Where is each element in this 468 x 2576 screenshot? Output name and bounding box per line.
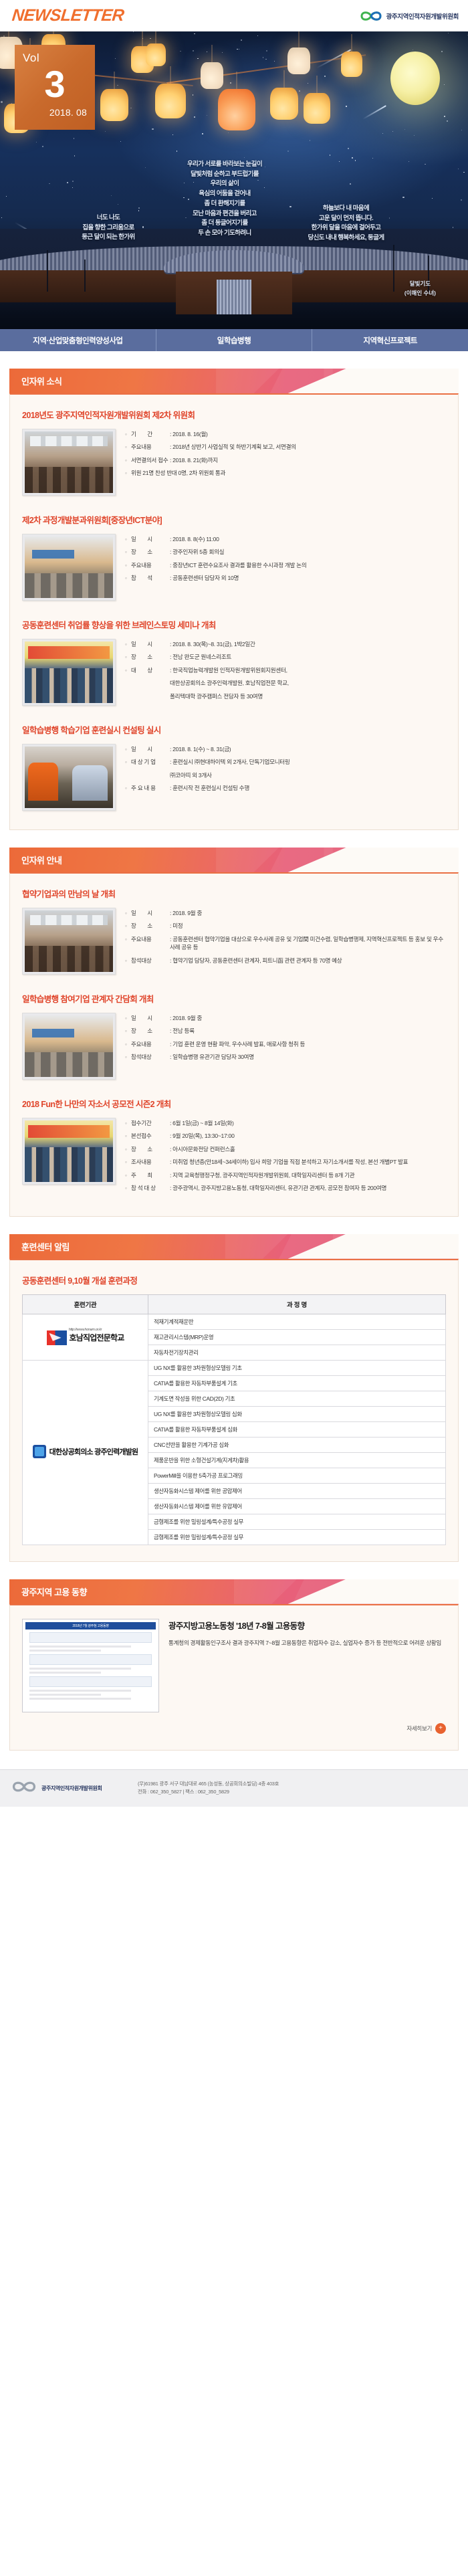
article-fact: ◦장 소: 전남 완도군 원네스리조트 xyxy=(125,653,446,661)
bullet-icon: ◦ xyxy=(125,561,131,569)
star-icon xyxy=(228,132,229,133)
star-icon xyxy=(145,167,146,168)
star-icon xyxy=(193,50,194,52)
star-icon xyxy=(453,227,453,227)
fact-value: : 훈련시작 전 훈련실시 컨설팅 수행 xyxy=(170,784,446,792)
footer-contact-info: (우)61981 광주 서구 대남대로 465 (농성동, 상공회의소빌딩) 4… xyxy=(138,1780,279,1797)
course-name-cell: 자동차전기장치관리 xyxy=(148,1345,446,1360)
star-icon xyxy=(444,84,445,85)
lantern-icon xyxy=(341,52,362,77)
star-icon xyxy=(150,38,151,39)
hero-banner: Vol 3 2018. 08 우리가 서로를 바라보는 눈길이 달빛처럼 순하고… xyxy=(0,31,468,329)
fact-value: : 2018년 상반기 사업실적 및 하반기계획 보고, 서면결의 xyxy=(170,443,446,451)
article-row: ◦접수기간: 6월 1일(금) ~ 8월 14일(화)◦본선접수: 9월 20일… xyxy=(22,1118,446,1197)
more-label: 자세히보기 xyxy=(406,1724,432,1732)
bullet-icon: ◦ xyxy=(125,1158,131,1166)
course-name-cell: UG NX를 활용한 3차원형상모델링 기초 xyxy=(148,1360,446,1375)
star-icon xyxy=(432,198,433,199)
infinity-swoosh-logo-icon xyxy=(360,9,382,23)
fact-value: : 광주인자위 5층 회의실 xyxy=(170,548,446,556)
fact-key: 일 시 xyxy=(131,535,170,543)
article-title: 일학습병행 학습기업 훈련실시 컨설팅 실시 xyxy=(22,723,446,736)
article-photo xyxy=(22,534,116,601)
fact-key: 일 시 xyxy=(131,909,170,917)
star-icon xyxy=(72,181,74,182)
course-name-cell: UG NX를 활용한 3차원형상모델링 심화 xyxy=(148,1406,446,1421)
star-icon xyxy=(138,207,140,209)
star-icon xyxy=(115,58,116,59)
star-icon xyxy=(202,133,203,134)
article: 협약기업과의 만남의 날 개최◦일 시: 2018. 9월 중◦장 소: 미정◦… xyxy=(22,887,446,975)
article-fact: ◦주 요 내 용: 훈련시작 전 훈련실시 컨설팅 수행 xyxy=(125,784,446,792)
article-fact: ◦주 최: 지역 교육청행정구청, 광주지역인적자원개발위원회, 대학일자리센터… xyxy=(125,1171,446,1179)
fact-value: : 중장년ICT 훈련수요조사 결과를 활용한 수시과정 개발 논의 xyxy=(170,561,446,569)
star-icon xyxy=(67,182,68,183)
fact-value: : 미정 xyxy=(170,922,446,930)
fact-key: 대 상 기 업 xyxy=(131,758,170,766)
report-doc-line xyxy=(29,1646,131,1648)
poem-right: 하늘보다 내 마음에 고운 달이 먼저 뜹니다. 한가위 달을 마음에 걸어두고… xyxy=(287,204,404,243)
article-title: 일학습병행 참여기업 관계자 간담회 개최 xyxy=(22,992,446,1005)
column-header-1: 과 정 명 xyxy=(148,1294,446,1314)
volume-number: 3 xyxy=(23,66,87,102)
fact-value: : 전남 완도군 원네스리조트 xyxy=(170,653,446,661)
star-icon xyxy=(111,195,112,196)
group-photo-seminar-icon xyxy=(25,641,113,703)
course-name-cell: 금형제조를 위한 밀링설계/특수공정 실무 xyxy=(148,1514,446,1529)
fact-value: : 9월 20일(목), 13:30~17:00 xyxy=(170,1132,446,1140)
article-photo-inner xyxy=(25,431,113,493)
fact-value: ㈜코아띠 외 3개사 xyxy=(170,771,446,779)
star-icon xyxy=(287,151,289,152)
nav-tab-label: 지역·산업맞춤형인력양성사업 xyxy=(33,335,122,346)
article-photo-inner xyxy=(25,910,113,972)
course-name-cell: PowerMill을 이용한 5축가공 프로그래밍 xyxy=(148,1468,446,1483)
star-icon xyxy=(425,164,425,165)
lantern-icon xyxy=(218,89,255,130)
report-doc-line xyxy=(29,1672,101,1674)
tree-icon xyxy=(84,260,86,292)
nav-tab-1[interactable]: 일학습병행 xyxy=(156,329,313,351)
table-row: 대한상공회의소 광주인력개발원UG NX를 활용한 3차원형상모델링 기초 xyxy=(23,1360,446,1375)
training-subtitle: 공동훈련센터 9,10월 개설 훈련과정 xyxy=(22,1274,446,1286)
lantern-icon xyxy=(287,47,310,74)
article: 2018년도 광주지역인적자원개발위원회 제2차 위원회◦기 간: 2018. … xyxy=(22,408,446,496)
star-icon xyxy=(408,161,409,162)
star-icon xyxy=(404,129,405,130)
article-fact: ◦장 소: 광주인자위 5층 회의실 xyxy=(125,548,446,556)
star-icon xyxy=(180,51,181,52)
table-row: http://www.honam.or.kr호남직업전문학교적재기계적재운반 xyxy=(23,1314,446,1329)
bullet-icon: ◦ xyxy=(125,935,131,952)
star-icon xyxy=(130,108,132,109)
fun-job-festival-poster-icon xyxy=(25,1120,113,1182)
bullet-icon: ◦ xyxy=(125,653,131,661)
bullet-icon: ◦ xyxy=(125,1053,131,1061)
article-photo xyxy=(22,1013,116,1080)
article-fact: ◦본선접수: 9월 20일(목), 13:30~17:00 xyxy=(125,1132,446,1140)
bullet-icon: ◦ xyxy=(125,456,131,464)
employment-section-body: 2018년 7월 광주첨 고용동향 광주지방고용노동청 '18년 7-8월 고용… xyxy=(9,1604,459,1751)
course-name-cell: 생산자동화시스템 제어를 위한 유압제어 xyxy=(148,1498,446,1514)
kcci-gwangju-hrd-logo-icon: 대한상공회의소 광주인력개발원 xyxy=(33,1445,138,1458)
meeting-room-long-table-photo-icon xyxy=(25,431,113,493)
training-section-title: 훈련센터 알림 xyxy=(21,1234,70,1259)
bullet-icon: ◦ xyxy=(125,1145,131,1153)
fact-key: 일 시 xyxy=(131,640,170,648)
article-title: 협약기업과의 만남의 날 개최 xyxy=(22,887,446,900)
bullet-icon: ◦ xyxy=(125,957,131,965)
injawi-guide-header: 인자위 안내 xyxy=(9,848,459,872)
star-icon xyxy=(444,116,445,117)
article-fact: ◦일 시: 2018. 8. 1(수) ~ 8. 31(금) xyxy=(125,745,446,753)
star-icon xyxy=(222,52,223,53)
palace-silhouette xyxy=(0,229,468,329)
fact-key: 서면결의서 접수 xyxy=(131,456,170,464)
star-icon xyxy=(133,31,134,32)
training-org-cell: 대한상공회의소 광주인력개발원 xyxy=(23,1360,148,1545)
fact-key: 대 상 xyxy=(131,666,170,674)
star-icon xyxy=(263,57,263,58)
training-org-name: 호남직업전문학교 xyxy=(70,1332,124,1343)
injawi-guide-body: 협약기업과의 만남의 날 개최◦일 시: 2018. 9월 중◦장 소: 미정◦… xyxy=(9,872,459,1217)
article-fact: ◦조사내용: 미취업 청년층(만18세~34세이하) 입사 희망 기업을 직접 … xyxy=(125,1158,446,1166)
article-fact: ◦참석대상: 일학습병행 유관기관 담당자 30여명 xyxy=(125,1053,446,1061)
bullet-icon: ◦ xyxy=(125,1171,131,1179)
article: 제2차 과정개발분과위원회[중장년ICT분야]◦일 시: 2018. 8. 8(… xyxy=(22,513,446,601)
article-row: ◦일 시: 2018. 9월 중◦장 소: 전남 등록◦주요내용: 기업 훈련 … xyxy=(22,1013,446,1080)
facet-decoration xyxy=(9,848,459,872)
fact-value: : 아시아문화전당 컨퍼런스홀 xyxy=(170,1145,446,1153)
training-section-body: 공동훈련센터 9,10월 개설 훈련과정 훈련기관과 정 명http://www… xyxy=(9,1259,459,1562)
star-icon xyxy=(239,49,239,49)
star-icon xyxy=(197,58,199,60)
lantern-icon xyxy=(270,88,298,120)
star-icon xyxy=(172,134,173,135)
fact-value: : 2018. 9월 중 xyxy=(170,909,446,917)
fact-value: 위원 21명 찬성 반대 0명, 2차 위원회 통과 xyxy=(131,469,446,477)
article-photo-inner xyxy=(25,641,113,703)
footer-org-lockup: 광주지역인적자원개발위원회 xyxy=(11,1779,128,1797)
fact-key: 참석대상 xyxy=(131,1053,170,1061)
fact-value: : 2018. 9월 중 xyxy=(170,1014,446,1022)
bullet-icon: ◦ xyxy=(125,745,131,753)
bullet-icon: ◦ xyxy=(125,535,131,543)
fact-key: 조사내용 xyxy=(131,1158,170,1166)
bullet-icon: ◦ xyxy=(125,548,131,556)
course-name-cell: 기계도면 작성을 위한 CAD(2D) 기초 xyxy=(148,1391,446,1406)
bullet-icon: ◦ xyxy=(125,758,131,766)
fact-value: : 공동훈련센터 담당자 외 10명 xyxy=(170,574,446,582)
star-icon xyxy=(348,148,349,149)
bullet-icon: ◦ xyxy=(125,666,131,674)
star-icon xyxy=(299,90,300,92)
nav-tab-2[interactable]: 지역혁신프로젝트 xyxy=(312,329,468,351)
article-title: 제2차 과정개발분과위원회[중장년ICT분야] xyxy=(22,513,446,526)
facet-decoration xyxy=(9,369,459,393)
employment-report-thumbnail[interactable]: 2018년 7월 광주첨 고용동향 xyxy=(22,1619,159,1712)
article-fact: ◦참 석 대 상: 광주광역시, 광주지방고용노동청, 대학일자리센터, 유관기… xyxy=(125,1184,446,1192)
article-fact: ◦일 시: 2018. 8. 8(수) 11:00 xyxy=(125,535,446,543)
star-icon xyxy=(339,161,340,162)
article-facts: ◦일 시: 2018. 9월 중◦장 소: 전남 등록◦주요내용: 기업 훈련 … xyxy=(125,1013,446,1066)
employment-report-body: 통계청의 경제활동인구조사 결과 광주지역 7~8월 고용동향은 취업자수 감소… xyxy=(168,1638,446,1648)
article-photo xyxy=(22,908,116,975)
star-icon xyxy=(6,196,7,197)
star-icon xyxy=(74,138,74,138)
article-facts: ◦일 시: 2018. 8. 30(목)~8. 31(금), 1박2일간◦장 소… xyxy=(125,639,446,705)
star-icon xyxy=(447,120,448,122)
star-icon xyxy=(266,50,267,52)
star-icon xyxy=(413,49,413,50)
star-icon xyxy=(194,116,195,118)
star-icon xyxy=(241,39,242,41)
bullet-icon: ◦ xyxy=(125,1132,131,1140)
star-icon xyxy=(105,131,106,132)
injawi-news-header: 인자위 소식 xyxy=(9,369,459,393)
logo-mark-icon xyxy=(33,1445,46,1458)
bullet-icon: ◦ xyxy=(125,1184,131,1192)
employment-section-title: 광주지역 고용 동향 xyxy=(21,1579,87,1604)
moon-icon xyxy=(390,52,440,105)
lantern-icon xyxy=(201,62,223,89)
star-icon xyxy=(461,199,462,201)
site-header: NEWSLETTER 광주지역인적자원개발위원회 xyxy=(0,0,468,31)
article-title: 2018년도 광주지역인적자원개발위원회 제2차 위원회 xyxy=(22,408,446,421)
fact-value: : 2018. 8. 21(화)까지 xyxy=(170,456,446,464)
fact-key: 주요내용 xyxy=(131,443,170,451)
article-fact: ◦주요내용: 기업 훈련 운영 현황 파악, 우수사례 발표, 애로사항 청취 … xyxy=(125,1040,446,1048)
fact-key: 참 석 xyxy=(131,574,170,582)
training-course-table: 훈련기관과 정 명http://www.honam.or.kr호남직업전문학교적… xyxy=(22,1294,446,1545)
nav-tabs: 지역·산업맞춤형인력양성사업일학습병행지역혁신프로젝트 xyxy=(0,329,468,351)
bullet-icon: ◦ xyxy=(125,1027,131,1035)
article-fact: 폴리텍대학 광주캠퍼스 전담자 등 30여명 xyxy=(170,692,446,700)
newsletter-logo: NEWSLETTER xyxy=(11,6,124,25)
plus-icon: + xyxy=(435,1723,446,1734)
star-icon xyxy=(324,76,326,77)
employment-section-header: 광주지역 고용 동향 xyxy=(9,1579,459,1604)
fact-value: : 지역 교육청행정구청, 광주지역인적자원개발위원회, 대학일자리센터 등 8… xyxy=(170,1171,446,1179)
article-facts: ◦접수기간: 6월 1일(금) ~ 8월 14일(화)◦본선접수: 9월 20일… xyxy=(125,1118,446,1197)
article-fact: ◦일 시: 2018. 9월 중 xyxy=(125,909,446,917)
bullet-icon: ◦ xyxy=(125,1014,131,1022)
star-icon xyxy=(117,85,118,86)
article-photo xyxy=(22,429,116,496)
article-facts: ◦일 시: 2018. 8. 8(수) 11:00◦장 소: 광주인자위 5층 … xyxy=(125,534,446,587)
site-footer: 광주지역인적자원개발위원회 (우)61981 광주 서구 대남대로 465 (농… xyxy=(0,1769,468,1807)
palace-roof-tiles xyxy=(164,250,304,273)
course-name-cell: CATIA를 활용한 자동차부품설계 기초 xyxy=(148,1375,446,1391)
employment-row: 2018년 7월 광주첨 고용동향 광주지방고용노동청 '18년 7-8월 고용… xyxy=(22,1619,446,1712)
star-icon xyxy=(310,140,311,141)
article-fact: ◦대 상 기 업: 훈련실시 ㈜현대하이텍 외 2개사, 단독기업모니터링 xyxy=(125,758,446,766)
bullet-icon: ◦ xyxy=(125,1119,131,1127)
article-fact: ◦기 간: 2018. 8. 16(월) xyxy=(125,430,446,438)
more-button[interactable]: 자세히보기 + xyxy=(22,1723,446,1734)
fact-key: 참석대상 xyxy=(131,957,170,965)
report-doc-line xyxy=(29,1650,101,1652)
report-doc-block xyxy=(29,1676,152,1687)
course-name-cell: CNC선반을 활용한 기계가공 심화 xyxy=(148,1437,446,1452)
article-photo xyxy=(22,639,116,706)
fact-key: 주요내용 xyxy=(131,935,170,952)
star-icon xyxy=(257,35,258,36)
fact-value: : 공동훈련센터 협약기업을 대상으로 우수사례 공유 및 기업間 미건수렴, … xyxy=(170,935,446,952)
star-icon xyxy=(372,158,373,159)
star-icon xyxy=(42,146,43,146)
org-lockup: 광주지역인적자원개발위원회 xyxy=(360,9,459,23)
star-icon xyxy=(382,133,383,134)
fact-key: 장 소 xyxy=(131,922,170,930)
fact-key: 주 최 xyxy=(131,1171,170,1179)
volume-date: 2018. 08 xyxy=(23,107,87,118)
star-icon xyxy=(441,51,443,52)
bullet-icon: ◦ xyxy=(125,469,131,477)
facet-decoration xyxy=(9,1234,459,1259)
star-icon xyxy=(328,201,329,201)
star-icon xyxy=(49,183,49,184)
star-icon xyxy=(346,106,346,106)
lantern-icon xyxy=(155,84,186,118)
fact-key: 일 시 xyxy=(131,745,170,753)
report-doc-block xyxy=(29,1654,152,1665)
bullet-icon: ◦ xyxy=(125,640,131,648)
article-facts: ◦일 시: 2018. 9월 중◦장 소: 미정◦주요내용: 공동훈련센터 협약… xyxy=(125,908,446,969)
article-fact: ◦주요내용: 2018년 상반기 사업실적 및 하반기계획 보고, 서면결의 xyxy=(125,443,446,451)
fact-key: 장 소 xyxy=(131,653,170,661)
article-row: ◦일 시: 2018. 8. 8(수) 11:00◦장 소: 광주인자위 5층 … xyxy=(22,534,446,601)
report-doc-title: 2018년 7월 광주첨 고용동향 xyxy=(25,1622,156,1629)
article-fact: ◦장 소: 아시아문화전당 컨퍼런스홀 xyxy=(125,1145,446,1153)
article-fact: ◦일 시: 2018. 9월 중 xyxy=(125,1014,446,1022)
report-document-preview: 2018년 7월 광주첨 고용동향 xyxy=(25,1622,156,1709)
nav-tab-label: 일학습병행 xyxy=(217,335,251,346)
fact-value: : 협약기업 담당자, 공동훈련센터 관계자, 피트니函 관련 관계자 등 70… xyxy=(170,957,446,965)
article-facts: ◦기 간: 2018. 8. 16(월)◦주요내용: 2018년 상반기 사업실… xyxy=(125,429,446,482)
star-icon xyxy=(265,59,267,60)
star-icon xyxy=(244,157,245,158)
article-photo xyxy=(22,1118,116,1185)
star-icon xyxy=(1,217,2,218)
star-icon xyxy=(36,142,37,143)
article: 2018 Fun한 나만의 자소서 공모전 시즌2 개최◦접수기간: 6월 1일… xyxy=(22,1097,446,1197)
star-icon xyxy=(463,172,465,173)
course-name-cell: 적재기계적재운반 xyxy=(148,1314,446,1329)
lantern-icon xyxy=(100,89,128,121)
fact-value: : 훈련실시 ㈜현대하이텍 외 2개사, 단독기업모니터링 xyxy=(170,758,446,766)
fact-key: 주요내용 xyxy=(131,1040,170,1048)
palace-gate xyxy=(164,250,304,314)
bullet-icon: ◦ xyxy=(125,784,131,792)
article-fact: ◦참 석: 공동훈련센터 담당자 외 10명 xyxy=(125,574,446,582)
tree-icon xyxy=(393,245,394,292)
article: 일학습병행 참여기업 관계자 간담회 개최◦일 시: 2018. 9월 중◦장 … xyxy=(22,992,446,1080)
fact-value: : 미취업 청년층(만18세~34세이하) 입사 희망 기업을 직접 분석하고 … xyxy=(170,1158,446,1166)
poem-center: 우리가 서로를 바라보는 눈길이 달빛처럼 순하고 부드럽기를 우리의 삶이 욕… xyxy=(158,160,291,239)
training-org-name: 대한상공회의소 광주인력개발원 xyxy=(49,1446,138,1457)
article-title: 2018 Fun한 나만의 자소서 공모전 시즌2 개최 xyxy=(22,1097,446,1110)
volume-badge: Vol 3 2018. 08 xyxy=(15,45,95,130)
course-name-cell: 금형제조를 위한 밀링설계/특수공정 실무 xyxy=(148,1529,446,1545)
injawi-news-body: 2018년도 광주지역인적자원개발위원회 제2차 위원회◦기 간: 2018. … xyxy=(9,393,459,830)
poem-left: 너도 나도 집을 향한 그리움으로 둥근 달이 되는 한가위 xyxy=(62,213,155,243)
bullet-icon: ◦ xyxy=(125,574,131,582)
poem-credit: 달빛기도 (이해인 수녀) xyxy=(404,279,436,298)
fact-value: : 2018. 8. 1(수) ~ 8. 31(금) xyxy=(170,745,446,753)
injawi-guide-title: 인자위 안내 xyxy=(21,848,62,872)
article-row: ◦일 시: 2018. 9월 중◦장 소: 미정◦주요내용: 공동훈련센터 협약… xyxy=(22,908,446,975)
star-icon xyxy=(448,33,449,33)
star-icon xyxy=(177,151,177,151)
article-photo-inner xyxy=(25,536,113,598)
star-icon xyxy=(458,169,459,169)
fact-value: : 2018. 8. 16(월) xyxy=(170,430,446,438)
bullet-icon: ◦ xyxy=(125,1040,131,1048)
star-icon xyxy=(1,101,2,102)
fact-key: 일 시 xyxy=(131,1014,170,1022)
fact-key: 장 소 xyxy=(131,1027,170,1035)
fact-key: 주요내용 xyxy=(131,561,170,569)
infinity-swoosh-logo-icon xyxy=(11,1779,37,1797)
star-icon xyxy=(74,155,76,157)
star-icon xyxy=(207,115,207,116)
column-header-0: 훈련기관 xyxy=(23,1294,148,1314)
star-icon xyxy=(352,157,353,159)
fact-key: 접수기간 xyxy=(131,1119,170,1127)
bullet-icon: ◦ xyxy=(125,909,131,917)
article-fact: ◦위원 21명 찬성 반대 0명, 2차 위원회 통과 xyxy=(125,469,446,477)
org-name: 광주지역인적자원개발위원회 xyxy=(386,11,459,21)
star-icon xyxy=(138,210,140,211)
nav-tab-0[interactable]: 지역·산업맞춤형인력양성사업 xyxy=(0,329,156,351)
nav-tab-label: 지역혁신프로젝트 xyxy=(363,335,417,346)
fact-value: : 기업 훈련 운영 현황 파악, 우수사례 발표, 애로사항 청취 등 xyxy=(170,1040,446,1048)
article-fact: ◦일 시: 2018. 8. 30(목)~8. 31(금), 1박2일간 xyxy=(125,640,446,648)
article: 공동훈련센터 취업률 향상을 위한 브레인스토밍 세미나 개최◦일 시: 201… xyxy=(22,618,446,706)
star-icon xyxy=(152,128,153,130)
article-fact: 대한상공회의소 광주인력개발원, 호남직업전문 학교, xyxy=(170,679,446,687)
fact-value: : 2018. 8. 8(수) 11:00 xyxy=(170,535,446,543)
employment-section: 광주지역 고용 동향 2018년 7월 광주첨 고용동향 xyxy=(0,1579,468,1751)
article-photo xyxy=(22,744,116,811)
training-org-cell: http://www.honam.or.kr호남직업전문학교 xyxy=(23,1314,148,1360)
star-icon xyxy=(350,183,351,185)
star-icon xyxy=(308,83,308,84)
bullet-icon: ◦ xyxy=(125,922,131,930)
article-photo-inner xyxy=(25,1015,113,1077)
article-fact: ◦주요내용: 공동훈련센터 협약기업을 대상으로 우수사례 공유 및 기업間 미… xyxy=(125,935,446,952)
fact-value: : 2018. 8. 30(목)~8. 31(금), 1박2일간 xyxy=(170,640,446,648)
star-icon xyxy=(392,131,393,132)
star-icon xyxy=(72,187,73,188)
honam-vocational-school-logo-icon: 호남직업전문학교 xyxy=(47,1330,124,1345)
star-icon xyxy=(237,49,237,49)
fact-key: 본선접수 xyxy=(131,1132,170,1140)
report-doc-block xyxy=(29,1632,152,1643)
star-icon xyxy=(230,82,231,84)
article-title: 공동훈련센터 취업률 향상을 위한 브레인스토밍 세미나 개최 xyxy=(22,618,446,631)
fact-key: 장 소 xyxy=(131,1145,170,1153)
fact-value: : 6월 1일(금) ~ 8월 14일(화) xyxy=(170,1119,446,1127)
star-icon xyxy=(330,155,330,155)
injawi-news-section: 인자위 소식2018년도 광주지역인적자원개발위원회 제2차 위원회◦기 간: … xyxy=(0,369,468,830)
course-name-cell: CATIA를 활용한 자동차부품설계 심화 xyxy=(148,1421,446,1437)
article-row: ◦일 시: 2018. 8. 30(목)~8. 31(금), 1박2일간◦장 소… xyxy=(22,639,446,706)
fact-value: 폴리텍대학 광주캠퍼스 전담자 등 30여명 xyxy=(170,692,446,700)
star-icon xyxy=(414,135,415,136)
fact-key: 참 석 대 상 xyxy=(131,1184,170,1192)
